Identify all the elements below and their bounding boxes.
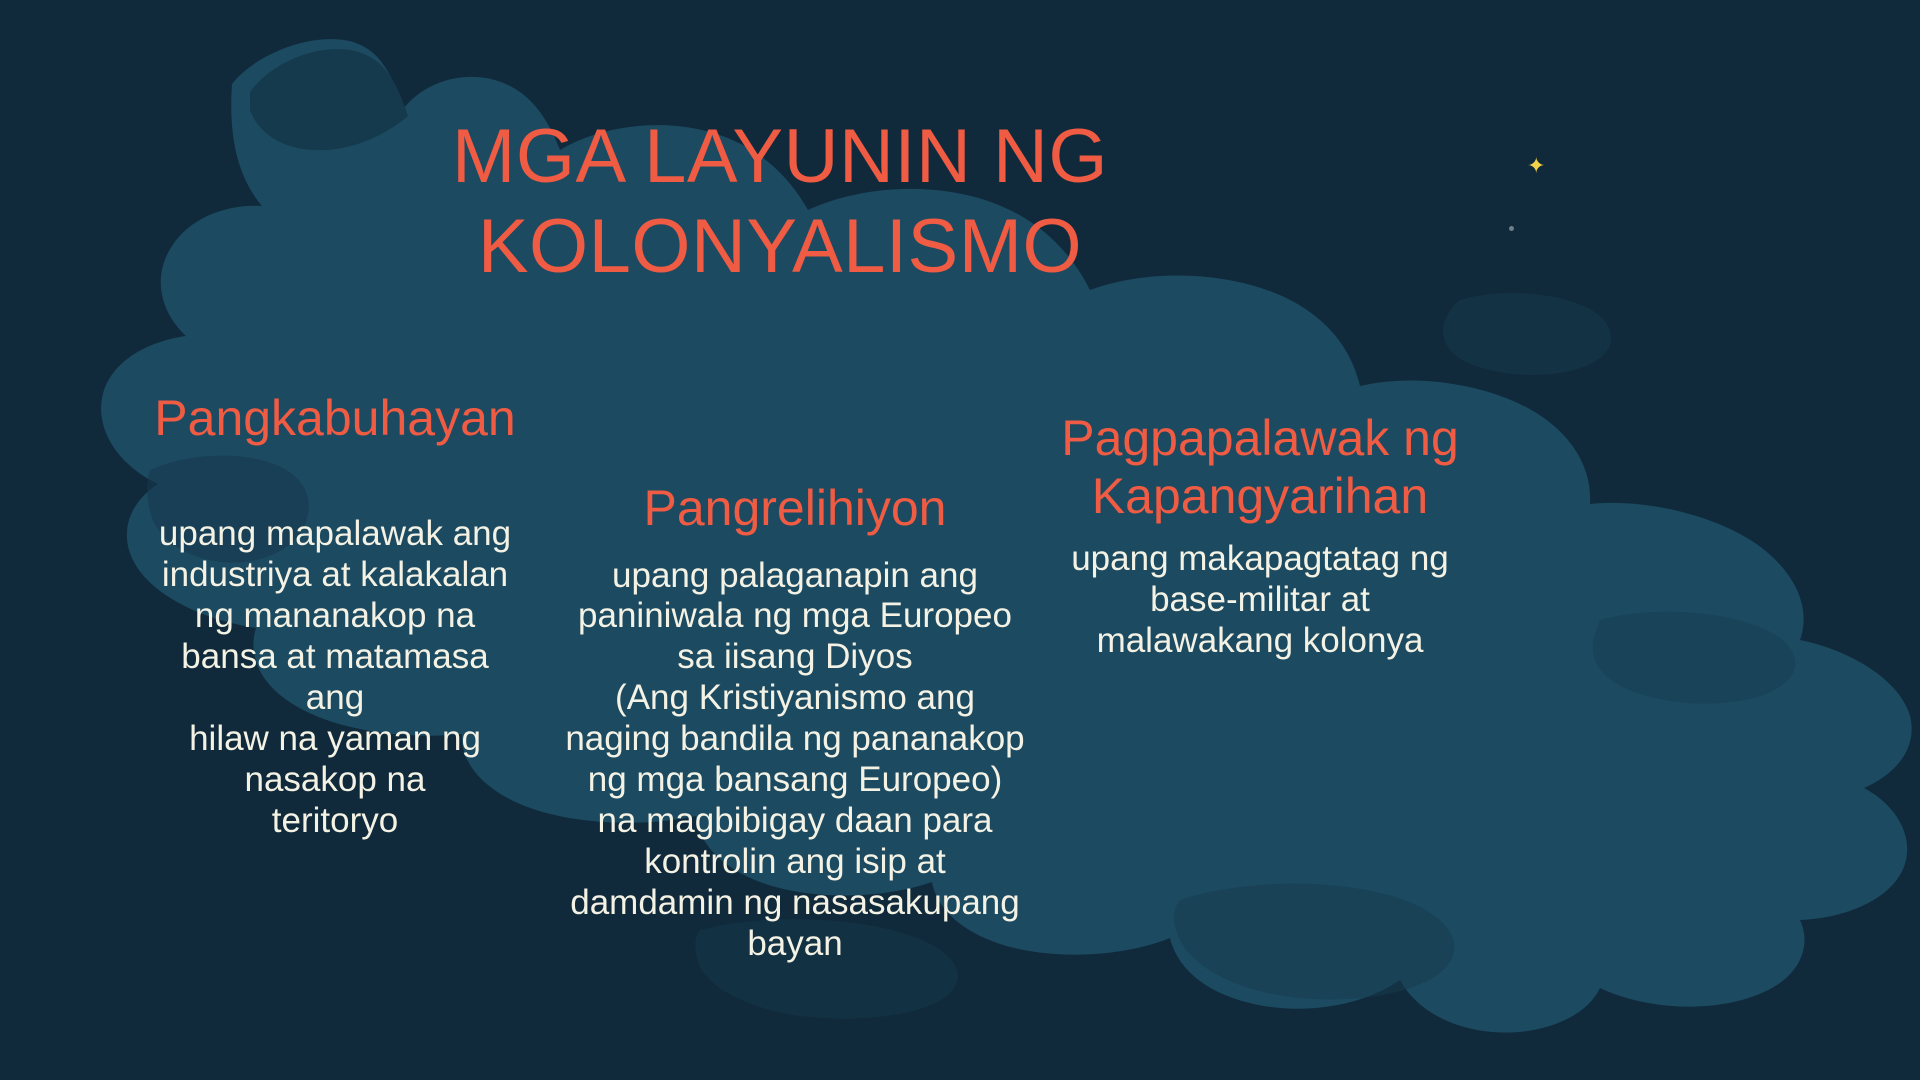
- sparkle-icon: ✦: [1527, 155, 1545, 177]
- slide-title: MGA LAYUNIN NG KOLONYALISMO: [380, 112, 1180, 291]
- slide-canvas: MGA LAYUNIN NG KOLONYALISMO ✦ Pangkabuha…: [0, 0, 1920, 1080]
- column-3-body: upang makapagtatag ng base-militar at ma…: [1040, 539, 1480, 662]
- column-1-heading: Pangkabuhayan: [150, 390, 520, 450]
- column-pagpapalawak-ng-kapangyarihan: Pagpapalawak ng Kapangyarihan upang maka…: [1040, 410, 1480, 662]
- dot-icon: [1509, 226, 1514, 231]
- column-pangrelihiyon: Pangrelihiyon upang palaganapin ang pani…: [560, 480, 1030, 965]
- column-2-heading: Pangrelihiyon: [560, 480, 1030, 538]
- column-3-heading: Pagpapalawak ng Kapangyarihan: [1040, 410, 1480, 525]
- column-1-body: upang mapalawak ang industriya at kalaka…: [150, 514, 520, 842]
- column-pangkabuhayan: Pangkabuhayan upang mapalawak ang indust…: [150, 480, 520, 842]
- column-2-body: upang palaganapin ang paniniwala ng mga …: [560, 556, 1030, 965]
